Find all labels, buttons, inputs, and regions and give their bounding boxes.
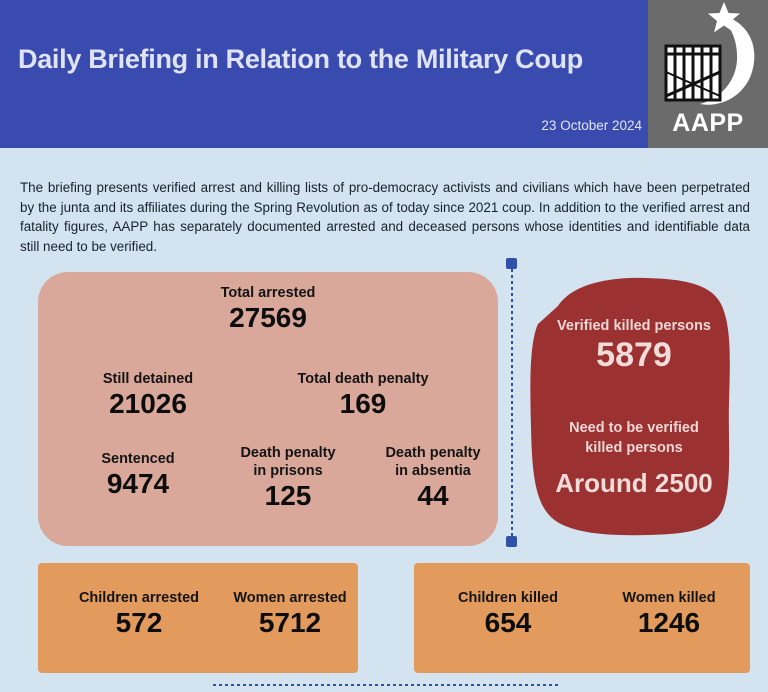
stat-death-penalty-in-absentia: Death penalty in absentia 44 bbox=[358, 444, 508, 512]
stat-label: Children arrested bbox=[54, 589, 224, 607]
divider-handle-bottom[interactable] bbox=[506, 536, 517, 547]
killed-statistics-panel: Verified killed persons 5879 Need to be … bbox=[518, 272, 750, 540]
stat-label: Sentenced bbox=[58, 450, 218, 468]
stat-value: 9474 bbox=[58, 468, 218, 500]
stat-sentenced: Sentenced 9474 bbox=[58, 450, 218, 500]
killed-demographics-panel: Children killed 654 Women killed 1246 bbox=[414, 563, 750, 673]
stat-label: Women arrested bbox=[210, 589, 370, 607]
horizontal-divider-guide[interactable] bbox=[213, 684, 561, 686]
stat-label: Total arrested bbox=[158, 284, 378, 302]
stat-value: 44 bbox=[358, 480, 508, 512]
aapp-logo: AAPP bbox=[648, 0, 768, 148]
arrested-demographics-panel: Children arrested 572 Women arrested 571… bbox=[38, 563, 358, 673]
logo-graphic bbox=[648, 0, 768, 120]
stat-value: 1246 bbox=[594, 607, 744, 639]
stat-value: 125 bbox=[213, 480, 363, 512]
stat-total-arrested: Total arrested 27569 bbox=[158, 284, 378, 334]
stat-label: Death penalty bbox=[213, 444, 363, 462]
verified-killed-value: 5879 bbox=[518, 336, 750, 375]
logo-wordmark: AAPP bbox=[648, 109, 768, 138]
stat-death-penalty-in-prisons: Death penalty in prisons 125 bbox=[213, 444, 363, 512]
stat-value: 169 bbox=[268, 388, 458, 420]
unverified-killed-value: Around 2500 bbox=[518, 468, 750, 499]
stat-value: 572 bbox=[54, 607, 224, 639]
stat-value: 5712 bbox=[210, 607, 370, 639]
stat-women-killed: Women killed 1246 bbox=[594, 589, 744, 639]
verified-killed-label: Verified killed persons bbox=[518, 316, 750, 336]
page-title: Daily Briefing in Relation to the Milita… bbox=[18, 44, 583, 75]
stat-value: 21026 bbox=[58, 388, 238, 420]
stat-children-killed: Children killed 654 bbox=[428, 589, 588, 639]
stat-label-line2: in prisons bbox=[213, 462, 363, 480]
unverified-killed-label-line2: killed persons bbox=[518, 438, 750, 458]
divider-handle-top[interactable] bbox=[506, 258, 517, 269]
stat-children-arrested: Children arrested 572 bbox=[54, 589, 224, 639]
prison-bars-icon bbox=[666, 46, 720, 100]
stat-women-arrested: Women arrested 5712 bbox=[210, 589, 370, 639]
stat-label: Total death penalty bbox=[268, 370, 458, 388]
arrest-statistics-panel: Total arrested 27569 Still detained 2102… bbox=[38, 272, 498, 546]
intro-paragraph: The briefing presents verified arrest an… bbox=[20, 178, 750, 256]
stat-label-line2: in absentia bbox=[358, 462, 508, 480]
stat-value: 27569 bbox=[158, 302, 378, 334]
stat-label: Still detained bbox=[58, 370, 238, 388]
stat-total-death-penalty: Total death penalty 169 bbox=[268, 370, 458, 420]
unverified-killed-label-line1: Need to be verified bbox=[518, 418, 750, 438]
stat-value: 654 bbox=[428, 607, 588, 639]
stat-label: Women killed bbox=[594, 589, 744, 607]
stat-label: Death penalty bbox=[358, 444, 508, 462]
briefing-date: 23 October 2024 bbox=[541, 118, 642, 133]
stat-label: Children killed bbox=[428, 589, 588, 607]
stat-still-detained: Still detained 21026 bbox=[58, 370, 238, 420]
vertical-divider-guide[interactable] bbox=[511, 263, 513, 541]
